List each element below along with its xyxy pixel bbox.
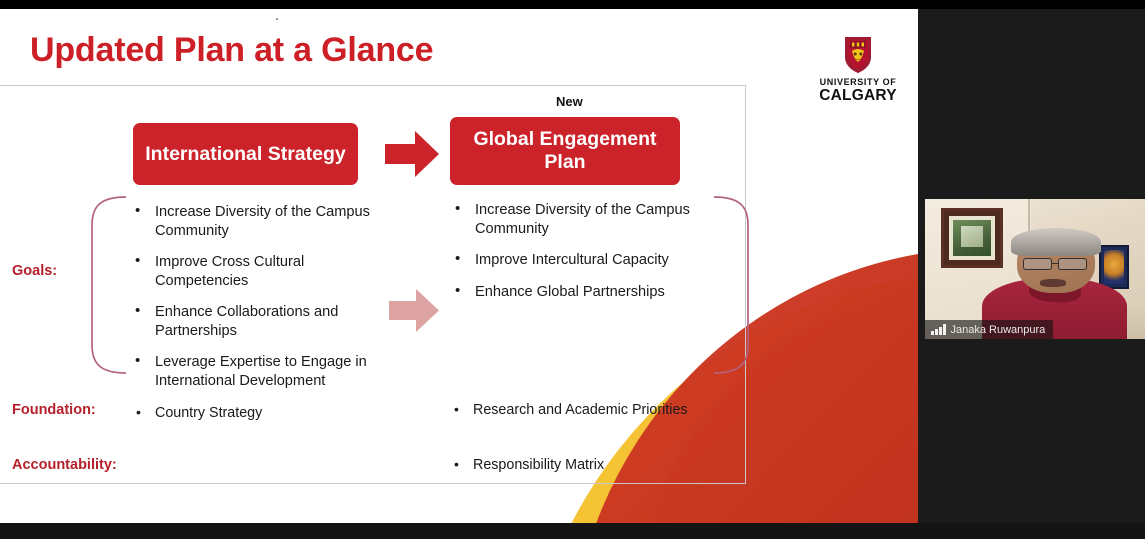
label-foundation: Foundation: [12, 402, 96, 418]
meeting-screen-share-view: Updated Plan at a Glance UNIVERSITY OF [0, 0, 1145, 539]
picture-artwork-inner [961, 226, 982, 247]
goals-list-new: Increase Diversity of the Campus Communi… [451, 201, 723, 314]
label-goals: Goals: [12, 263, 57, 279]
bottom-letterbox-bar [0, 523, 1145, 539]
logo-line-2: CALGARY [810, 88, 906, 104]
person-hair [1011, 228, 1101, 256]
list-item: Enhance Global Partnerships [451, 283, 723, 302]
uofc-shield-icon [810, 33, 906, 77]
participant-name: Janaka Ruwanpura [951, 324, 1046, 336]
foundation-old-item: Country Strategy [133, 405, 262, 421]
transition-arrow-icon [385, 130, 439, 178]
audio-signal-bars-icon [931, 324, 946, 335]
list-item: Leverage Expertise to Engage in Internat… [131, 353, 381, 390]
list-item: Enhance Collaborations and Partnerships [131, 303, 381, 340]
slide-speck [276, 18, 278, 20]
goals-list-old: Increase Diversity of the Campus Communi… [131, 203, 381, 403]
list-item: Improve Cross Cultural Competencies [131, 253, 381, 290]
list-item: Improve Intercultural Capacity [451, 251, 723, 270]
global-engagement-plan-box: Global Engagement Plan [450, 117, 680, 185]
label-accountability: Accountability: [12, 457, 117, 473]
page-title: Updated Plan at a Glance [30, 31, 433, 70]
participant-video-tile[interactable]: Janaka Ruwanpura [925, 199, 1145, 339]
left-brace-icon [88, 195, 128, 375]
foundation-new-item: Research and Academic Priorities [451, 402, 688, 418]
person-glasses-left [1023, 258, 1052, 270]
international-strategy-box: International Strategy [133, 123, 358, 185]
shared-slide[interactable]: Updated Plan at a Glance UNIVERSITY OF [0, 7, 918, 528]
person-glasses-right [1058, 258, 1087, 270]
accountability-new-item: Responsibility Matrix [451, 457, 604, 473]
list-item: Increase Diversity of the Campus Communi… [131, 203, 381, 240]
top-letterbox-bar [0, 0, 1145, 9]
person-glasses-bridge [1052, 263, 1059, 265]
participant-name-bar: Janaka Ruwanpura [925, 320, 1053, 339]
list-item: Increase Diversity of the Campus Communi… [451, 201, 723, 238]
university-logo: UNIVERSITY OF CALGARY [810, 33, 906, 104]
person-mouth [1040, 279, 1066, 287]
goals-transition-arrow-icon [389, 288, 439, 333]
new-label: New [556, 94, 583, 109]
